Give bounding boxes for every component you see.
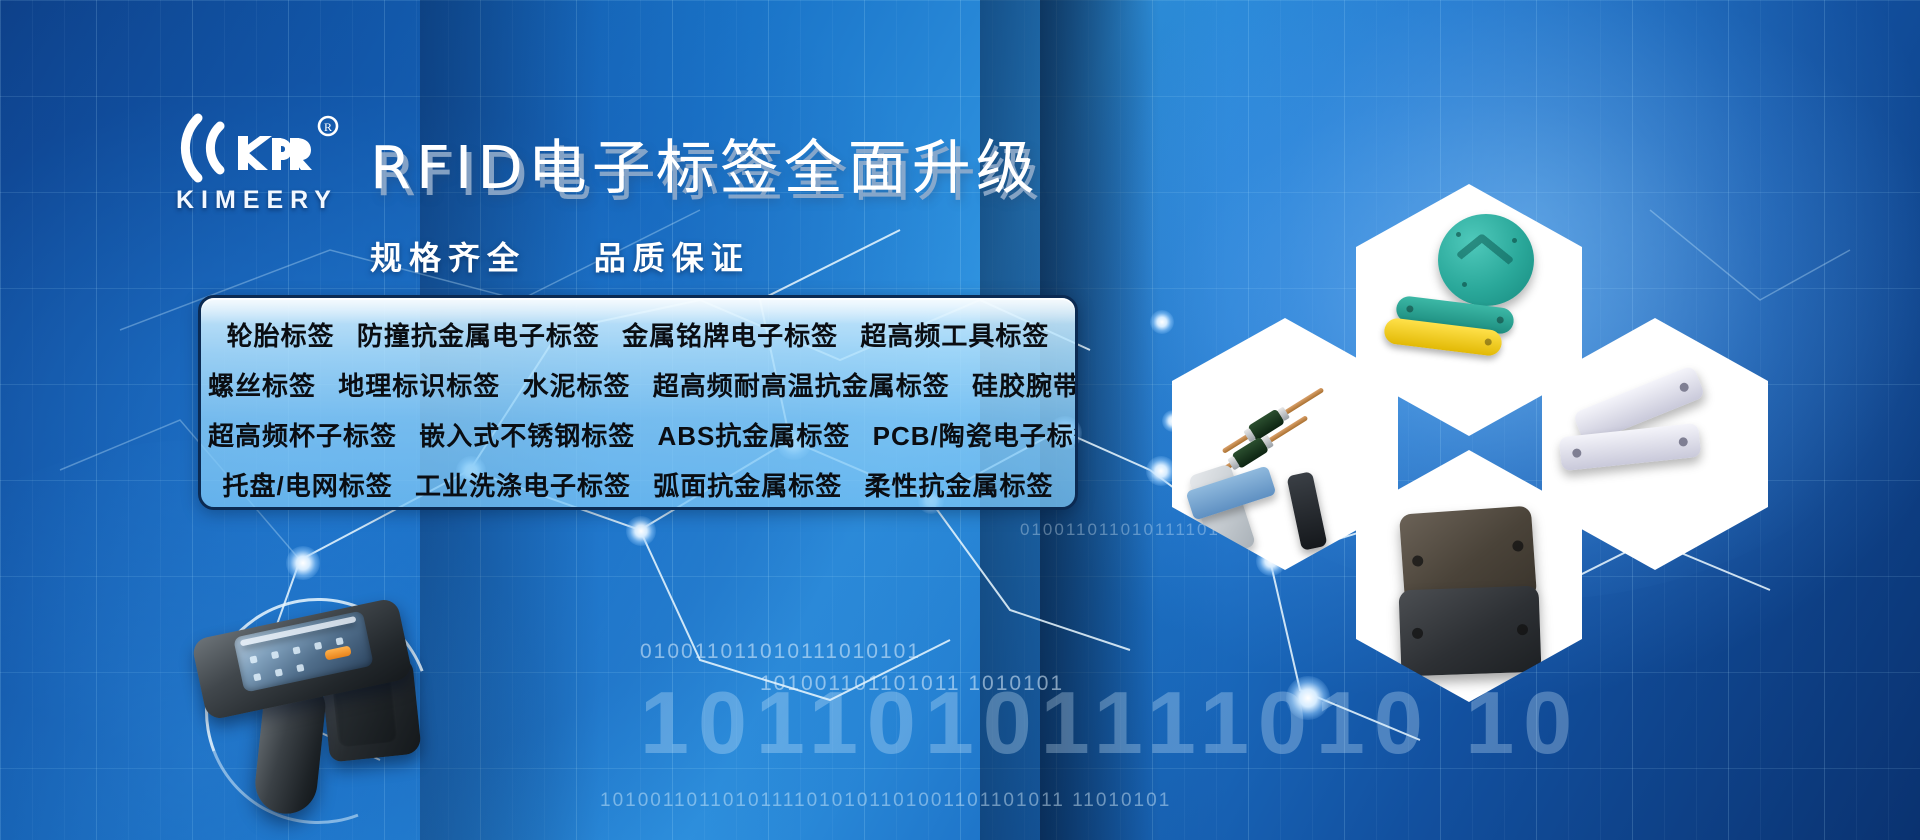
- kimeery-wave-logo-icon: R: [172, 108, 342, 188]
- tag-item[interactable]: 地理标识标签: [338, 361, 500, 411]
- teal-disc-tag-icon: [1438, 214, 1534, 306]
- tag-item[interactable]: 超高频杯子标签: [208, 411, 397, 461]
- page-title: RFID电子标签全面升级: [370, 120, 1040, 205]
- tag-item[interactable]: 柔性抗金属标签: [864, 461, 1053, 510]
- tag-row: 轮胎标签 防撞抗金属电子标签 金属铭牌电子标签 超高频工具标签: [201, 311, 1075, 361]
- tag-item[interactable]: 超高频工具标签: [860, 311, 1049, 361]
- tag-item[interactable]: 防撞抗金属电子标签: [357, 311, 600, 361]
- tag-row: 螺丝标签 地理标识标签 水泥标签 超高频耐高温抗金属标签 硅胶腕带: [201, 361, 1075, 411]
- tag-item[interactable]: 托盘/电网标签: [223, 461, 393, 510]
- subtitle-right: 品质保证: [594, 240, 750, 276]
- tag-item[interactable]: 嵌入式不锈钢标签: [419, 411, 635, 461]
- brand-logo[interactable]: R KIMEERY: [172, 108, 342, 216]
- handheld-rfid-reader[interactable]: [175, 600, 465, 840]
- tag-item[interactable]: 弧面抗金属标签: [653, 461, 842, 510]
- tag-item[interactable]: 硅胶腕带: [972, 361, 1078, 411]
- tag-item[interactable]: PCB/陶瓷电子标签: [873, 411, 1078, 461]
- black-stick-tag-icon: [1286, 471, 1327, 551]
- registered-mark-icon: R: [319, 117, 337, 135]
- tag-item[interactable]: 工业洗涤电子标签: [415, 461, 631, 510]
- page-subtitle: 规格齐全 品质保证: [370, 233, 750, 279]
- network-node: [286, 546, 320, 580]
- svg-text:R: R: [324, 120, 332, 134]
- dark-abs-pad-tag-icon: [1399, 586, 1542, 677]
- tag-item[interactable]: ABS抗金属标签: [658, 411, 851, 461]
- network-node: [626, 516, 656, 546]
- tag-category-panel: 轮胎标签 防撞抗金属电子标签 金属铭牌电子标签 超高频工具标签 螺丝标签 地理标…: [198, 295, 1078, 510]
- binary-line-1: 010011011010111010101: [640, 640, 921, 664]
- binary-line-2: 101001101101011 1010101: [760, 672, 1064, 696]
- binary-line-3: 10100110110101111010101101001101101011 1…: [600, 790, 1171, 812]
- tag-category-list: 轮胎标签 防撞抗金属电子标签 金属铭牌电子标签 超高频工具标签 螺丝标签 地理标…: [201, 298, 1075, 510]
- brand-wordmark: KIMEERY: [174, 186, 340, 215]
- subtitle-left: 规格齐全: [370, 240, 526, 276]
- tag-item[interactable]: 水泥标签: [523, 361, 631, 411]
- tag-item[interactable]: 超高频耐高温抗金属标签: [653, 361, 950, 411]
- product-hexagon-cluster: [1150, 178, 1790, 638]
- tag-item[interactable]: 轮胎标签: [227, 311, 335, 361]
- banner-root: 10110101111010 10 010011011010111010101 …: [0, 0, 1920, 840]
- tag-row: 托盘/电网标签 工业洗涤电子标签 弧面抗金属标签 柔性抗金属标签: [201, 461, 1075, 510]
- tag-item[interactable]: 螺丝标签: [208, 361, 316, 411]
- tag-item[interactable]: 金属铭牌电子标签: [622, 311, 838, 361]
- tag-row: 超高频杯子标签 嵌入式不锈钢标签 ABS抗金属标签 PCB/陶瓷电子标签: [201, 411, 1075, 461]
